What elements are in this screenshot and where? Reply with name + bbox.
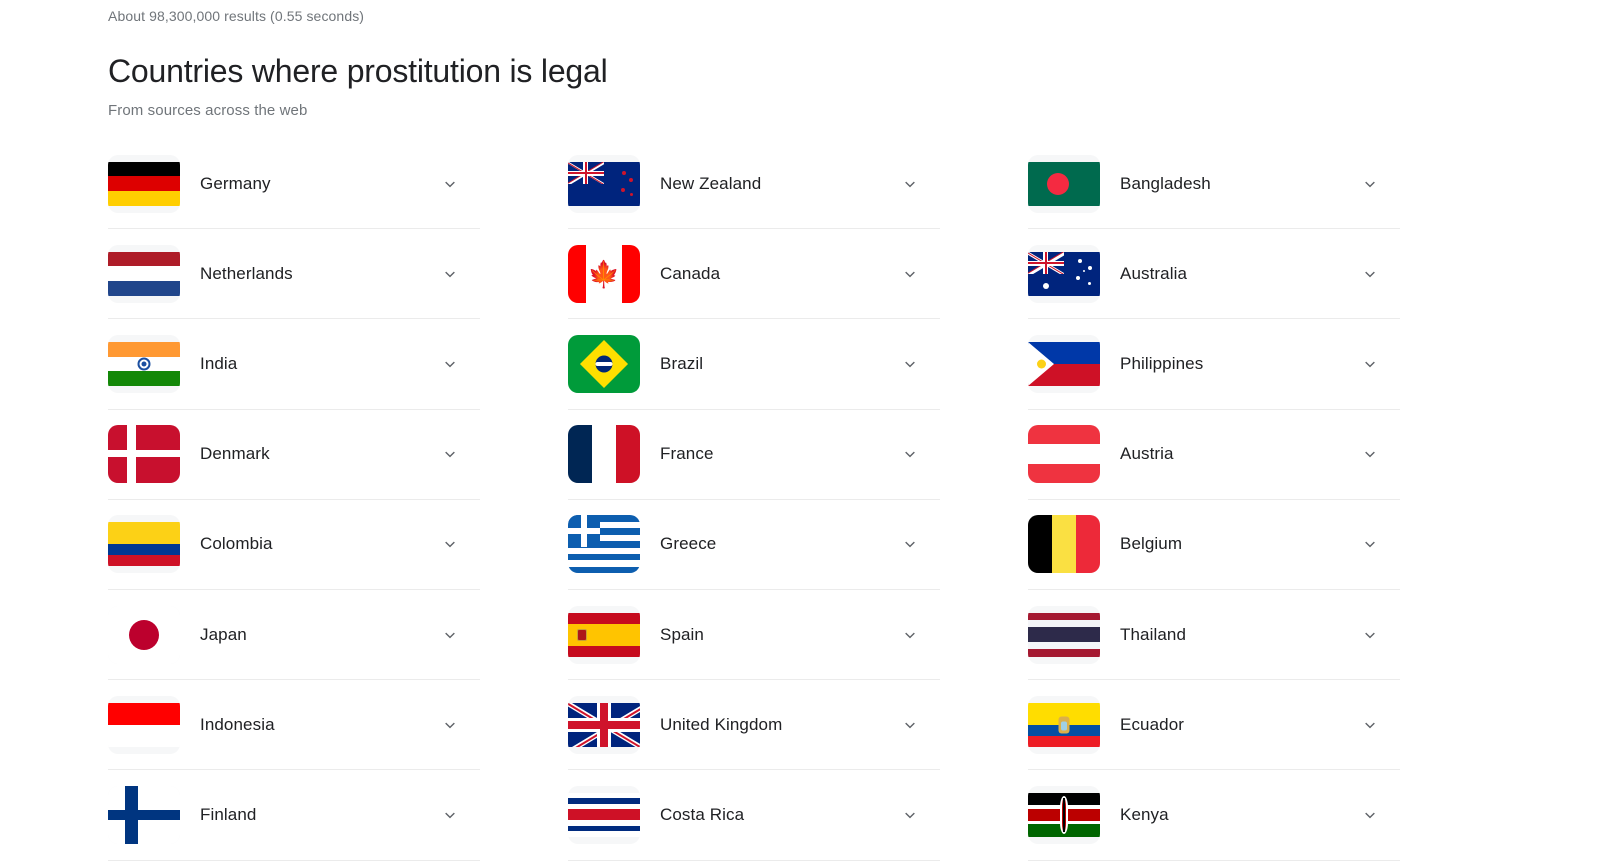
country-row[interactable]: Netherlands [108,229,480,319]
flag-tile [1028,245,1100,303]
flag-cr-icon [568,793,640,837]
flag-tile [568,425,640,483]
flag-fr-icon [568,425,640,483]
country-name: Austria [1120,444,1358,464]
country-grid: GermanyNetherlands India DenmarkColombia… [108,139,1408,861]
country-row[interactable]: New Zealand [568,139,940,229]
flag-tile [108,335,180,393]
flag-tile [1028,425,1100,483]
flag-ph-icon [1028,342,1100,386]
flag-tile [108,606,180,664]
column-gap [940,139,1028,861]
country-name: Australia [1120,264,1358,284]
column-gap [480,139,568,861]
flag-tile [568,335,640,393]
country-name: Costa Rica [660,805,898,825]
flag-ke-icon [1028,793,1100,837]
country-name: Belgium [1120,534,1358,554]
country-row[interactable]: Australia [1028,229,1400,319]
country-name: Ecuador [1120,715,1358,735]
chevron-down-icon[interactable] [898,172,922,196]
chevron-down-icon[interactable] [1358,713,1382,737]
country-column-1: GermanyNetherlands India DenmarkColombia… [108,139,480,861]
chevron-down-icon[interactable] [898,442,922,466]
country-name: Kenya [1120,805,1358,825]
chevron-down-icon[interactable] [438,172,462,196]
country-row[interactable]: Colombia [108,500,480,590]
country-name: Greece [660,534,898,554]
country-name: New Zealand [660,174,898,194]
country-row[interactable]: Bangladesh [1028,139,1400,229]
country-row[interactable]: United Kingdom [568,680,940,770]
chevron-down-icon[interactable] [898,713,922,737]
flag-th-icon [1028,613,1100,657]
country-name: India [200,354,438,374]
flag-nl-icon [108,252,180,296]
flag-tile [108,696,180,754]
flag-tile [568,786,640,844]
chevron-down-icon[interactable] [438,442,462,466]
flag-ec-icon [1028,703,1100,747]
flag-tile [108,786,180,844]
chevron-down-icon[interactable] [1358,352,1382,376]
country-name: Spain [660,625,898,645]
country-name: Philippines [1120,354,1358,374]
chevron-down-icon[interactable] [1358,172,1382,196]
country-row[interactable]: Kenya [1028,770,1400,860]
flag-nz-icon [568,162,640,206]
country-row[interactable]: Spain [568,590,940,680]
results-count: About 98,300,000 results (0.55 seconds) [108,7,1600,25]
page-title: Countries where prostitution is legal [108,51,1600,91]
chevron-down-icon[interactable] [1358,803,1382,827]
country-name: Netherlands [200,264,438,284]
flag-in-icon [108,342,180,386]
country-name: Brazil [660,354,898,374]
chevron-down-icon[interactable] [438,803,462,827]
flag-tile [108,245,180,303]
flag-gb-icon [568,703,640,747]
country-column-3: Bangladesh Australia Phi [1028,139,1400,861]
flag-jp-icon [108,606,180,664]
flag-br-icon [568,335,640,393]
chevron-down-icon[interactable] [438,262,462,286]
flag-tile [1028,606,1100,664]
flag-fi-icon [108,786,180,844]
flag-ca-icon: 🍁 [568,245,640,303]
flag-tile [108,515,180,573]
flag-bd-icon [1028,162,1100,206]
flag-tile [108,155,180,213]
chevron-down-icon[interactable] [1358,532,1382,556]
page-subtitle: From sources across the web [108,101,1600,121]
country-name: Japan [200,625,438,645]
country-row[interactable]: Germany [108,139,480,229]
flag-tile [568,606,640,664]
chevron-down-icon[interactable] [438,532,462,556]
country-row[interactable]: France [568,410,940,500]
country-name: Bangladesh [1120,174,1358,194]
country-row[interactable]: Brazil [568,319,940,409]
flag-tile [1028,696,1100,754]
country-name: Germany [200,174,438,194]
country-row[interactable]: Greece [568,500,940,590]
search-results-page: About 98,300,000 results (0.55 seconds) … [0,0,1600,864]
chevron-down-icon[interactable] [898,352,922,376]
chevron-down-icon[interactable] [1358,442,1382,466]
country-row[interactable]: Denmark [108,410,480,500]
chevron-down-icon[interactable] [438,623,462,647]
country-name: United Kingdom [660,715,898,735]
country-name: Denmark [200,444,438,464]
country-row[interactable]: Belgium [1028,500,1400,590]
flag-au-icon [1028,252,1100,296]
country-row[interactable]: India [108,319,480,409]
flag-tile [1028,155,1100,213]
chevron-down-icon[interactable] [438,352,462,376]
flag-gr-icon [568,515,640,573]
country-row[interactable]: Indonesia [108,680,480,770]
country-row[interactable]: Thailand [1028,590,1400,680]
country-name: Colombia [200,534,438,554]
flag-tile [1028,335,1100,393]
flag-tile [1028,515,1100,573]
country-name: Thailand [1120,625,1358,645]
country-row[interactable]: Ecuador [1028,680,1400,770]
flag-be-icon [1028,515,1100,573]
country-name: France [660,444,898,464]
country-row[interactable]: Philippines [1028,319,1400,409]
chevron-down-icon[interactable] [1358,262,1382,286]
chevron-down-icon[interactable] [898,623,922,647]
flag-tile [568,155,640,213]
flag-de-icon [108,162,180,206]
country-row[interactable]: Austria [1028,410,1400,500]
chevron-down-icon[interactable] [898,803,922,827]
flag-tile [568,515,640,573]
flag-tile: 🍁 [568,245,640,303]
country-column-2: New Zealand 🍁Canada BrazilFrance Greece … [568,139,940,861]
flag-es-icon [568,613,640,657]
flag-tile [1028,786,1100,844]
chevron-down-icon[interactable] [1358,623,1382,647]
flag-tile [108,425,180,483]
chevron-down-icon[interactable] [898,532,922,556]
country-row[interactable]: 🍁Canada [568,229,940,319]
country-name: Indonesia [200,715,438,735]
country-row[interactable]: Costa Rica [568,770,940,860]
flag-at-icon [1028,425,1100,483]
flag-tile [568,696,640,754]
country-name: Finland [200,805,438,825]
country-row[interactable]: Japan [108,590,480,680]
country-name: Canada [660,264,898,284]
flag-dk-icon [108,425,180,483]
chevron-down-icon[interactable] [438,713,462,737]
country-row[interactable]: Finland [108,770,480,860]
flag-id-icon [108,703,180,747]
flag-co-icon [108,522,180,566]
chevron-down-icon[interactable] [898,262,922,286]
